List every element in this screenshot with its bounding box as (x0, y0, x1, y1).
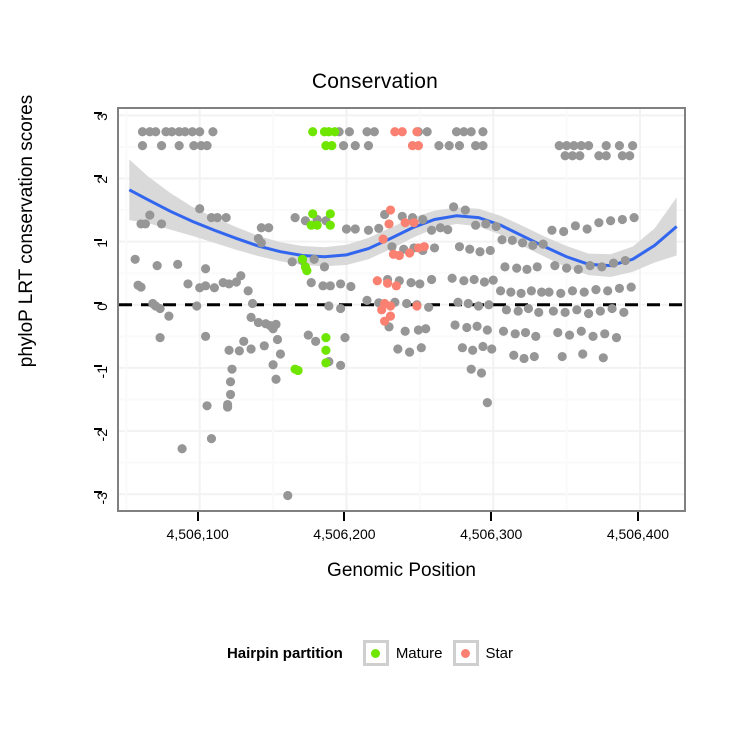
data-point (470, 275, 479, 284)
data-point (288, 257, 297, 266)
y-tick-label: 0 (94, 303, 110, 329)
data-point (380, 317, 389, 326)
data-point (480, 277, 489, 286)
data-point (264, 223, 273, 232)
data-point (544, 288, 553, 297)
data-point (474, 301, 483, 310)
data-point (406, 278, 415, 287)
data-point (471, 221, 480, 230)
data-point (136, 282, 145, 291)
data-point (164, 312, 173, 321)
data-point (583, 224, 592, 233)
y-axis-label: phyloP LRT conservation scores (16, 11, 38, 451)
data-point (276, 349, 285, 358)
data-point (612, 333, 621, 342)
data-point (227, 365, 236, 374)
data-point (271, 375, 280, 384)
data-point (345, 127, 354, 136)
data-point (173, 260, 182, 269)
data-point (600, 329, 609, 338)
data-point (486, 246, 495, 255)
data-point (201, 264, 210, 273)
data-point (584, 309, 593, 318)
data-point (602, 141, 611, 150)
data-point (430, 243, 439, 252)
data-point (202, 401, 211, 410)
data-point (458, 343, 467, 352)
data-point (224, 346, 233, 355)
data-point (500, 262, 509, 271)
data-point (453, 298, 462, 307)
data-point (511, 329, 520, 338)
data-point (370, 127, 379, 136)
data-point (402, 299, 411, 308)
data-point (336, 361, 345, 370)
data-point (514, 306, 523, 315)
data-point (138, 141, 147, 150)
x-tick-label: 4,506,300 (436, 526, 546, 542)
data-point (621, 256, 630, 265)
data-point (151, 127, 160, 136)
data-point (427, 226, 436, 235)
data-point (383, 279, 392, 288)
data-point (628, 141, 637, 150)
data-point (283, 491, 292, 500)
data-point (497, 235, 506, 244)
legend-swatch-dot (461, 649, 470, 658)
data-point (226, 377, 235, 386)
data-point (530, 352, 539, 361)
data-point (273, 335, 282, 344)
data-point (235, 346, 244, 355)
data-point (584, 141, 593, 150)
data-point (155, 304, 164, 313)
data-point (342, 224, 351, 233)
data-point (477, 368, 486, 377)
data-point (461, 205, 470, 214)
data-point (336, 279, 345, 288)
series-other (131, 127, 639, 500)
data-point (183, 279, 192, 288)
data-point (405, 348, 414, 357)
data-point (577, 327, 586, 336)
data-point (222, 213, 231, 222)
data-point (528, 241, 537, 250)
data-point (448, 274, 457, 283)
data-point (464, 299, 473, 308)
data-point (420, 242, 429, 251)
data-point (562, 264, 571, 273)
data-point (417, 343, 426, 352)
data-point (326, 221, 335, 230)
data-point (455, 242, 464, 251)
data-point (311, 337, 320, 346)
data-point (405, 248, 414, 257)
data-point (386, 301, 395, 310)
data-point (599, 353, 608, 362)
data-point (423, 127, 432, 136)
data-point (450, 320, 459, 329)
legend-key-box (363, 640, 389, 666)
data-point (630, 213, 639, 222)
data-point (362, 296, 371, 305)
data-point (374, 224, 383, 233)
data-point (550, 261, 559, 270)
data-point (192, 301, 201, 310)
data-point (607, 304, 616, 313)
data-point (575, 151, 584, 160)
y-tick-label: 1 (94, 240, 110, 266)
data-point (434, 141, 443, 150)
data-point (459, 276, 468, 285)
data-point (326, 281, 335, 290)
data-point (340, 333, 349, 342)
data-point (561, 308, 570, 317)
data-point (379, 234, 388, 243)
data-point (475, 247, 484, 256)
data-point (574, 265, 583, 274)
data-point (547, 226, 556, 235)
data-point (202, 141, 211, 150)
data-point (346, 282, 355, 291)
data-point (260, 341, 269, 350)
data-point (559, 227, 568, 236)
data-point (591, 285, 600, 294)
data-point (313, 221, 322, 230)
data-point (418, 215, 427, 224)
y-tick-label: 3 (94, 113, 110, 139)
data-point (373, 276, 382, 285)
data-point (558, 352, 567, 361)
legend-item-mature[interactable]: Mature (363, 640, 453, 666)
data-point (462, 323, 471, 332)
data-point (572, 305, 581, 314)
x-axis-ticks: 4,506,1004,506,2004,506,3004,506,400 (117, 512, 686, 552)
data-point (445, 141, 454, 150)
data-point (534, 308, 543, 317)
data-point (455, 141, 464, 150)
data-point (208, 127, 217, 136)
data-point (472, 322, 481, 331)
data-point (597, 262, 606, 271)
data-point (468, 346, 477, 355)
data-point (615, 284, 624, 293)
data-point (268, 360, 277, 369)
legend: Hairpin partition MatureStar (0, 640, 750, 666)
x-axis-label: Genomic Position (117, 560, 686, 582)
data-point (364, 141, 373, 150)
plot-area (119, 109, 684, 510)
data-point (627, 282, 636, 291)
data-point (324, 301, 333, 310)
y-tick-label: -1 (94, 366, 110, 392)
y-tick-label: -2 (94, 429, 110, 455)
data-point (308, 127, 317, 136)
data-point (308, 209, 317, 218)
data-point (619, 308, 628, 317)
data-point (153, 261, 162, 270)
data-point (302, 266, 311, 275)
data-point (615, 141, 624, 150)
data-point (248, 299, 257, 308)
data-point (539, 240, 548, 249)
data-point (414, 141, 423, 150)
legend-label: Star (486, 645, 514, 662)
data-point (531, 332, 540, 341)
data-point (512, 264, 521, 273)
data-point (524, 304, 533, 313)
data-point (157, 141, 166, 150)
data-point (351, 224, 360, 233)
data-point (155, 333, 164, 342)
data-point (244, 286, 253, 295)
data-point (401, 218, 410, 227)
data-point (330, 127, 339, 136)
x-tick-label: 4,506,400 (583, 526, 693, 542)
data-point (320, 262, 329, 271)
data-point (609, 258, 618, 267)
data-point (585, 261, 594, 270)
data-point (157, 219, 166, 228)
data-point (213, 213, 222, 222)
x-tick-mark (343, 512, 345, 521)
data-point (207, 434, 216, 443)
data-point (246, 344, 255, 353)
data-point (509, 351, 518, 360)
chart-root: Conservation phyloP LRT conservation sco… (0, 0, 750, 750)
data-point (478, 127, 487, 136)
scatter-plot-svg (119, 109, 684, 510)
data-point (443, 225, 452, 234)
data-point (492, 222, 501, 231)
data-point (131, 255, 140, 264)
data-point (321, 358, 330, 367)
data-point (467, 127, 476, 136)
data-point (465, 245, 474, 254)
legend-item-star[interactable]: Star (453, 640, 524, 666)
data-point (141, 219, 150, 228)
data-point (195, 204, 204, 213)
data-point (602, 151, 611, 160)
data-point (518, 238, 527, 247)
data-point (307, 278, 316, 287)
x-tick-mark (637, 512, 639, 521)
data-point (565, 330, 574, 339)
data-point (596, 306, 605, 315)
data-point (508, 236, 517, 245)
y-axis-ticks: -3-2-10123 (68, 107, 102, 512)
plot-panel (117, 107, 686, 512)
data-point (556, 289, 565, 298)
legend-items: MatureStar (363, 640, 523, 666)
data-point (293, 366, 302, 375)
data-point (175, 141, 184, 150)
data-point (594, 218, 603, 227)
data-point (467, 365, 476, 374)
data-point (478, 141, 487, 150)
data-point (239, 337, 248, 346)
data-point (522, 265, 531, 274)
y-tick-label: -3 (94, 492, 110, 518)
data-point (364, 226, 373, 235)
data-point (257, 238, 266, 247)
data-point (310, 255, 319, 264)
data-point (201, 281, 210, 290)
data-point (201, 332, 210, 341)
data-point (226, 390, 235, 399)
data-point (339, 141, 348, 150)
data-point (427, 275, 436, 284)
data-point (603, 286, 612, 295)
data-point (351, 141, 360, 150)
data-point (412, 127, 421, 136)
data-point (519, 354, 528, 363)
data-point (291, 213, 300, 222)
data-point (527, 286, 536, 295)
data-point (223, 402, 232, 411)
data-point (178, 444, 187, 453)
data-point (401, 327, 410, 336)
data-point (424, 303, 433, 312)
data-point (489, 276, 498, 285)
data-point (481, 219, 490, 228)
data-point (588, 332, 597, 341)
data-point (502, 305, 511, 314)
data-point (321, 346, 330, 355)
data-point (421, 324, 430, 333)
legend-title: Hairpin partition (227, 645, 343, 662)
data-point (483, 325, 492, 334)
data-point (195, 127, 204, 136)
y-tick-label: 2 (94, 176, 110, 202)
data-point (533, 262, 542, 271)
data-point (484, 300, 493, 309)
data-point (145, 210, 154, 219)
data-point (386, 205, 395, 214)
data-point (449, 202, 458, 211)
data-point (487, 344, 496, 353)
data-point (571, 221, 580, 230)
x-tick-label: 4,506,100 (143, 526, 253, 542)
data-point (496, 286, 505, 295)
data-point (478, 342, 487, 351)
data-point (568, 286, 577, 295)
legend-key-box (453, 640, 479, 666)
legend-label: Mature (396, 645, 443, 662)
data-point (549, 306, 558, 315)
data-point (606, 216, 615, 225)
data-point (517, 289, 526, 298)
data-point (580, 288, 589, 297)
data-point (521, 328, 530, 337)
data-point (336, 304, 345, 313)
data-point (625, 151, 634, 160)
legend-swatch-dot (371, 649, 380, 658)
data-point (553, 328, 562, 337)
x-tick-mark (197, 512, 199, 521)
data-point (395, 251, 404, 260)
x-tick-mark (490, 512, 492, 521)
data-point (499, 327, 508, 336)
data-point (377, 305, 386, 314)
data-point (304, 330, 313, 339)
data-point (327, 141, 336, 150)
data-point (268, 324, 277, 333)
data-point (384, 219, 393, 228)
data-point (506, 288, 515, 297)
data-point (321, 333, 330, 342)
data-point (210, 283, 219, 292)
data-point (415, 279, 424, 288)
x-tick-label: 4,506,200 (289, 526, 399, 542)
data-point (398, 127, 407, 136)
data-point (578, 349, 587, 358)
data-point (412, 301, 421, 310)
data-point (326, 209, 335, 218)
data-point (393, 344, 402, 353)
data-point (409, 218, 418, 227)
data-point (236, 271, 245, 280)
data-point (483, 398, 492, 407)
data-point (392, 281, 401, 290)
data-point (618, 215, 627, 224)
page-title: Conservation (0, 70, 750, 94)
